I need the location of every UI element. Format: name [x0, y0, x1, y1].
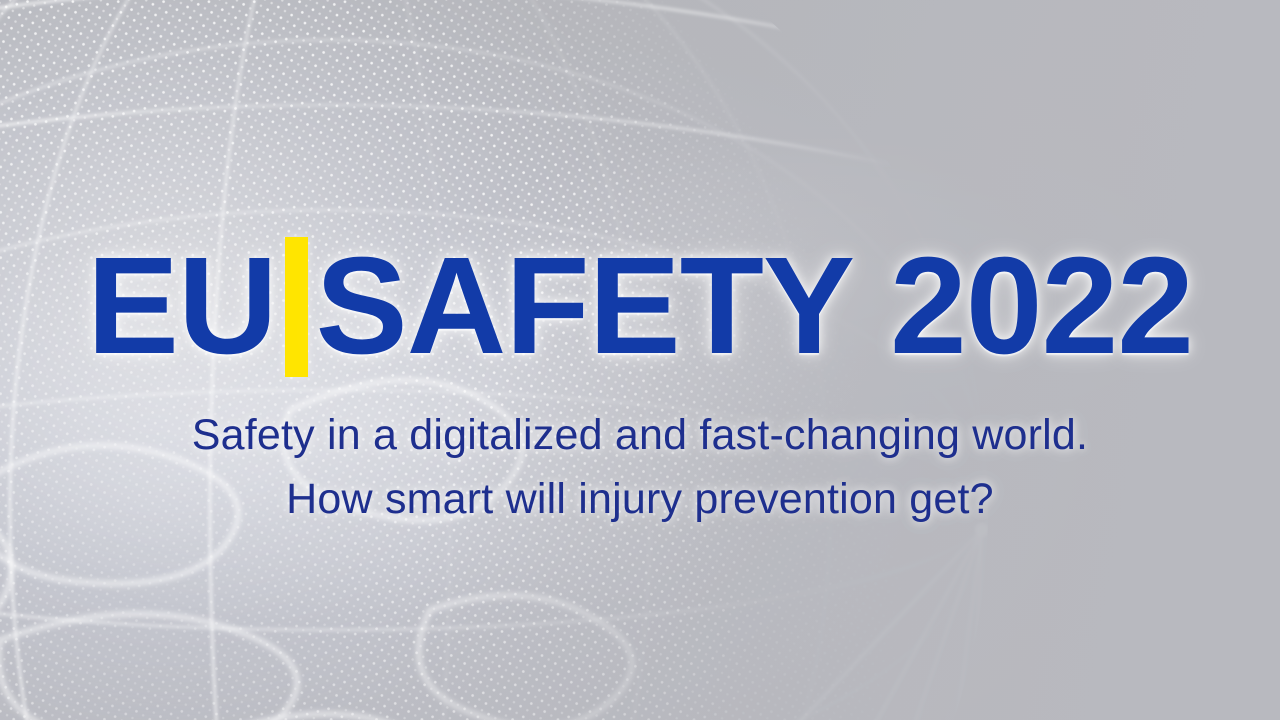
- title-year: 2022: [890, 239, 1193, 374]
- title-part-eu: EU: [87, 239, 277, 374]
- event-title: EU SAFETY 2022: [87, 237, 1193, 377]
- vertical-bar-icon: [285, 237, 308, 377]
- event-subtitle: Safety in a digitalized and fast-changin…: [192, 403, 1088, 532]
- subtitle-line-2: How smart will injury prevention get?: [192, 467, 1088, 532]
- title-part-safety: SAFETY: [316, 239, 854, 374]
- subtitle-line-1: Safety in a digitalized and fast-changin…: [192, 403, 1088, 468]
- slide-content: EU SAFETY 2022 Safety in a digitalized a…: [0, 0, 1280, 720]
- title-slide: EU SAFETY 2022 Safety in a digitalized a…: [0, 0, 1280, 720]
